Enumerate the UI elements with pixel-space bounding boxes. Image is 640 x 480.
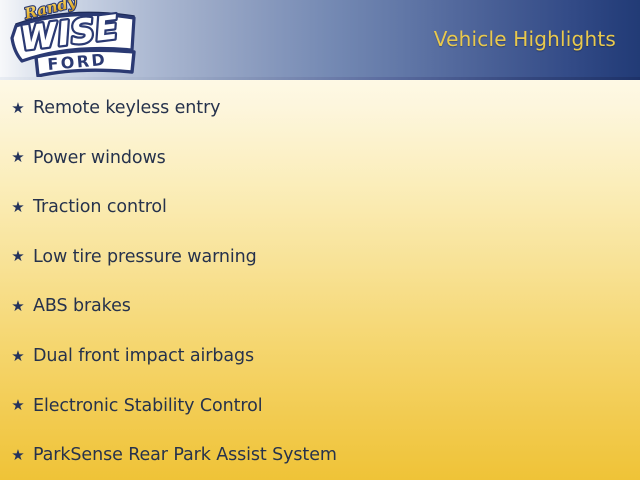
star-bullet-icon: ★	[8, 299, 28, 314]
list-item: ★Traction control	[8, 194, 167, 220]
page-title: Vehicle Highlights	[434, 27, 616, 51]
list-item: ★Low tire pressure warning	[8, 244, 257, 270]
vehicle-highlights-list: ★Remote keyless entry★Power windows★Trac…	[0, 80, 640, 480]
star-bullet-icon: ★	[8, 200, 28, 215]
list-item-label: Low tire pressure warning	[33, 247, 257, 267]
list-item-label: Power windows	[33, 148, 166, 168]
list-item: ★ABS brakes	[8, 293, 131, 319]
list-item: ★Dual front impact airbags	[8, 343, 254, 369]
header-bar: WISE Randy FORD Vehicle Highlights	[0, 0, 640, 80]
star-bullet-icon: ★	[8, 150, 28, 165]
star-bullet-icon: ★	[8, 398, 28, 413]
list-item-label: ParkSense Rear Park Assist System	[33, 445, 337, 465]
list-item: ★Power windows	[8, 145, 166, 171]
vehicle-highlights-slide: WISE Randy FORD Vehicle Highlights ★Remo…	[0, 0, 640, 480]
list-item-label: Dual front impact airbags	[33, 346, 254, 366]
randy-wise-ford-logo: WISE Randy FORD	[6, 0, 146, 80]
list-item: ★ParkSense Rear Park Assist System	[8, 442, 337, 468]
list-item: ★Remote keyless entry	[8, 95, 220, 121]
list-item-label: ABS brakes	[33, 296, 131, 316]
star-bullet-icon: ★	[8, 249, 28, 264]
star-bullet-icon: ★	[8, 101, 28, 116]
list-item-label: Electronic Stability Control	[33, 396, 262, 416]
star-bullet-icon: ★	[8, 448, 28, 463]
list-item-label: Remote keyless entry	[33, 98, 220, 118]
star-bullet-icon: ★	[8, 349, 28, 364]
logo-ford-banner: FORD	[36, 50, 134, 76]
list-item: ★Electronic Stability Control	[8, 393, 262, 419]
list-item-label: Traction control	[33, 197, 167, 217]
